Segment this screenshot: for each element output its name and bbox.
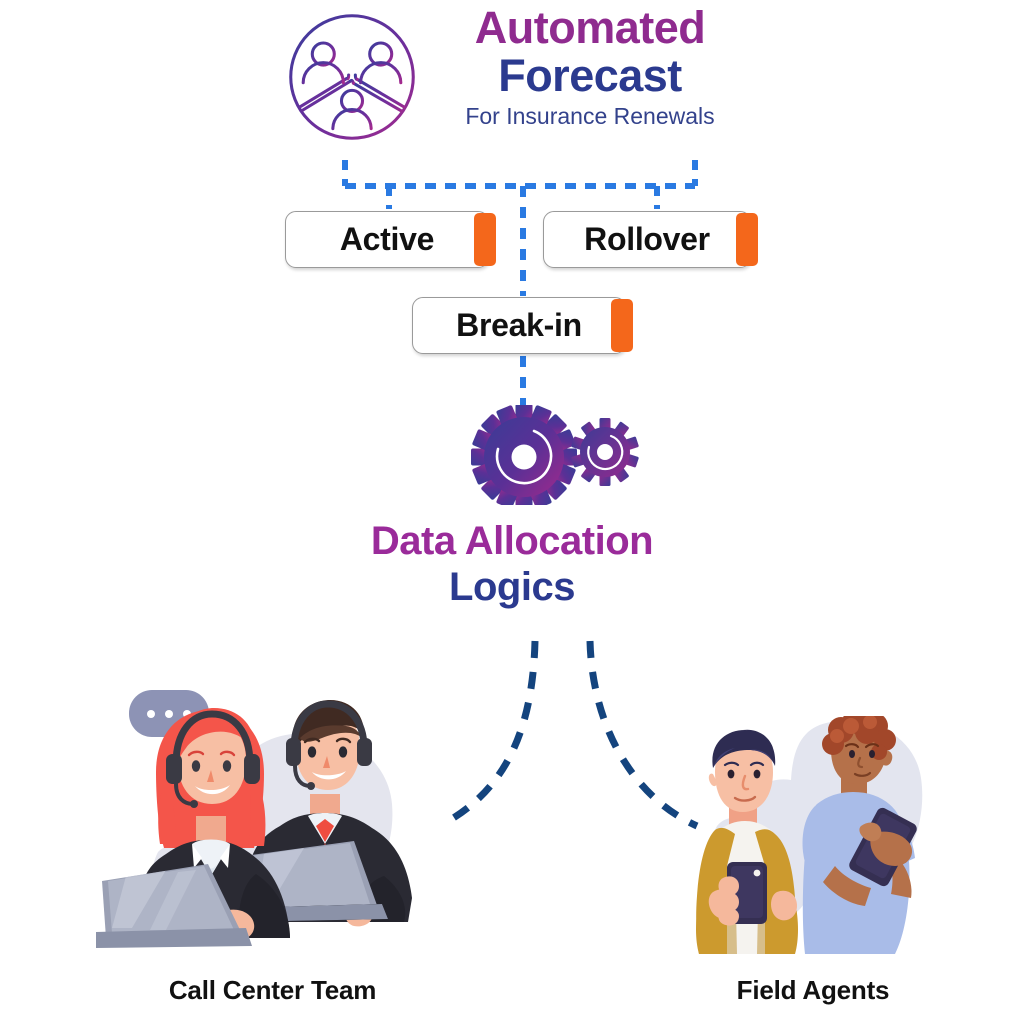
header: Automated Forecast For Insurance Renewal… (285, 4, 755, 156)
category-label: Active (340, 221, 434, 258)
field-agents-illustration (665, 716, 955, 954)
accent-tab-icon (474, 213, 496, 266)
category-button-rollover[interactable]: Rollover (543, 211, 751, 268)
center-caption: Data Allocation Logics (262, 518, 762, 610)
center-caption-line2: Logics (262, 564, 762, 610)
category-button-active[interactable]: Active (285, 211, 489, 268)
connector-curve-to-call-center (443, 641, 535, 824)
output-label-field-agents: Field Agents (668, 975, 958, 1006)
accent-tab-icon (736, 213, 758, 266)
three-people-pie-circle-icon (285, 10, 419, 144)
center-caption-line1: Data Allocation (262, 518, 762, 564)
header-text-block: Automated Forecast For Insurance Renewal… (425, 4, 755, 130)
infographic-canvas: Automated Forecast For Insurance Renewal… (0, 0, 1024, 1024)
two-gears-icon (462, 405, 647, 505)
page-title-line2: Forecast (425, 51, 755, 101)
page-subtitle: For Insurance Renewals (425, 103, 755, 131)
category-button-break-in[interactable]: Break-in (412, 297, 626, 354)
small-gear (571, 418, 639, 486)
page-title-line1: Automated (425, 4, 755, 51)
category-label: Rollover (584, 221, 710, 258)
output-label-call-center-team: Call Center Team (100, 975, 445, 1006)
category-label: Break-in (456, 307, 582, 344)
large-gear (471, 405, 577, 505)
accent-tab-icon (611, 299, 633, 352)
call-center-team-illustration (96, 676, 446, 954)
